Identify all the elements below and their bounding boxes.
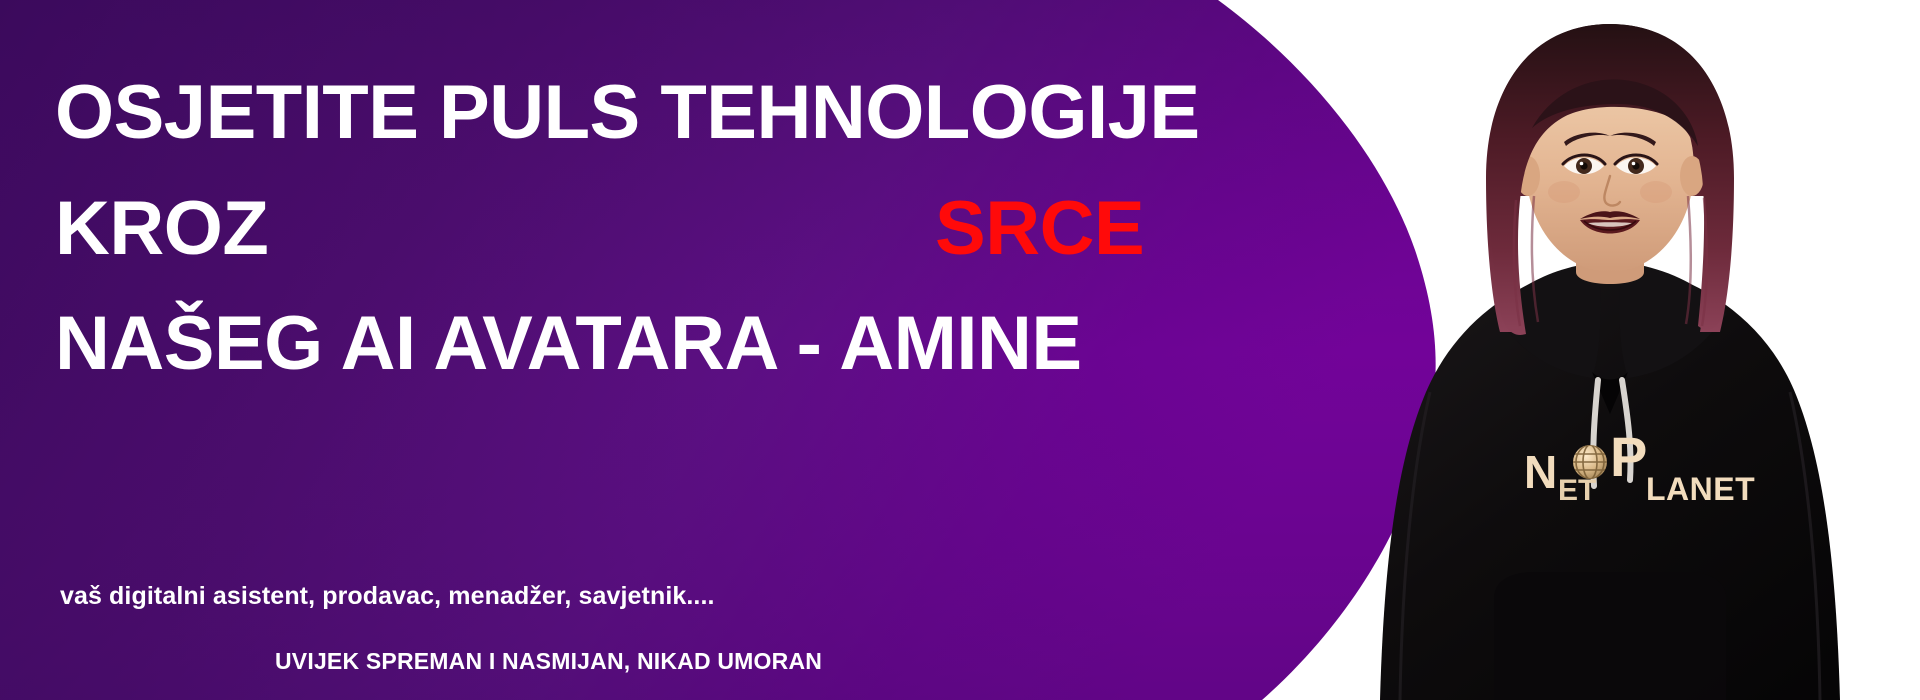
headline-line-3: NAŠEG AI AVATARA - AMINE bbox=[55, 286, 1235, 402]
hero-banner: N P ET LANET bbox=[0, 0, 1920, 700]
headline-line-1: OSJETITE PULS TEHNOLOGIJE bbox=[55, 55, 1235, 171]
headline-accent-srce: SRCE bbox=[935, 171, 1144, 287]
subtitle-tagline: UVIJEK SPREMAN I NASMIJAN, NIKAD UMORAN bbox=[275, 648, 822, 675]
banner-content: OSJETITE PULS TEHNOLOGIJE KROZ SRCE NAŠE… bbox=[0, 0, 1250, 700]
subtitle-roles: vaš digitalni asistent, prodavac, menadž… bbox=[60, 582, 715, 611]
headline-line-2-prefix: KROZ bbox=[55, 171, 268, 287]
headline-line-2: KROZ SRCE bbox=[55, 171, 1235, 287]
headline-block: OSJETITE PULS TEHNOLOGIJE KROZ SRCE NAŠE… bbox=[55, 55, 1235, 402]
